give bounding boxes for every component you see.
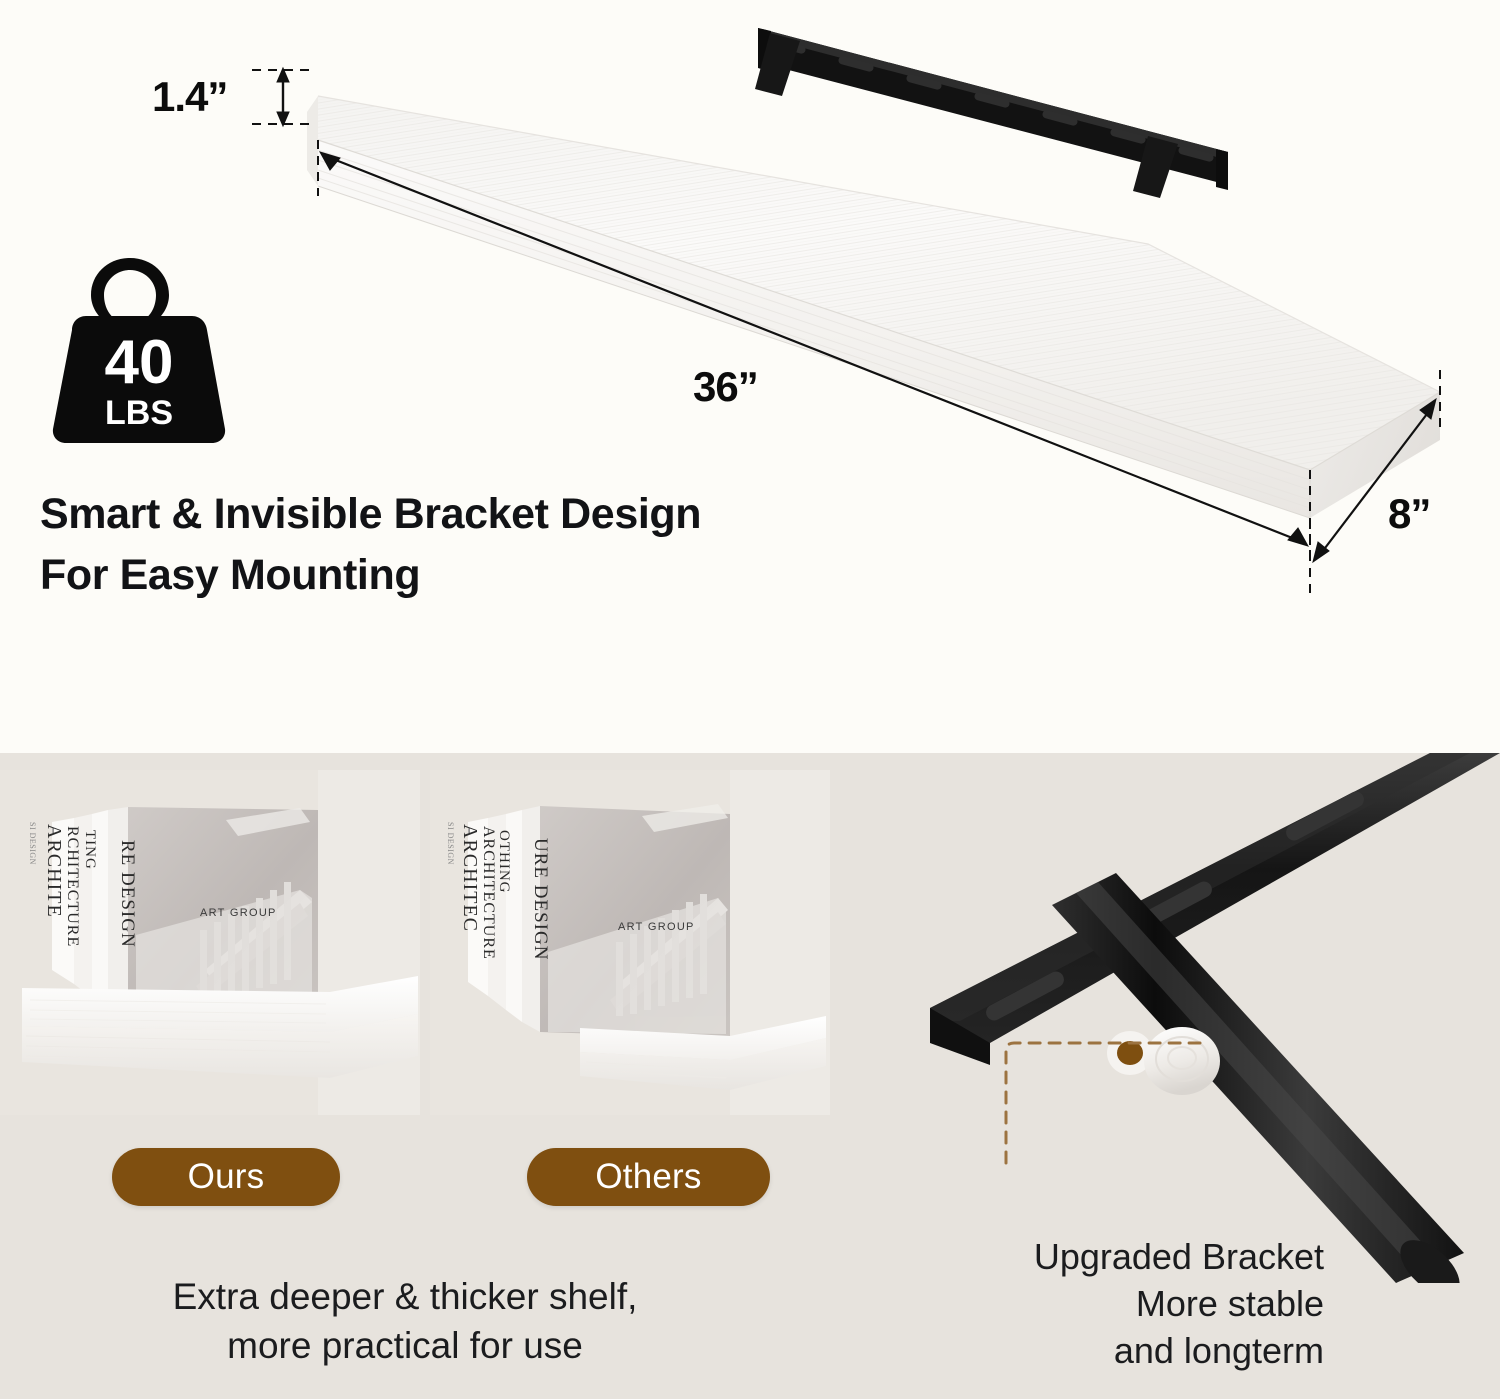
ours-scene: ART GROUP RE DESIGN TING RCHITECTURE ARC…	[0, 770, 420, 1115]
badge-others[interactable]: Others	[527, 1148, 770, 1206]
product-infographic: 40 LBS 1.4” 36” 8” Smart & Invisible Bra…	[0, 0, 1500, 1399]
svg-text:ARCHITE: ARCHITE	[43, 824, 65, 918]
book-cover-text-ours: ART GROUP	[200, 907, 277, 919]
hero-headline: Smart & Invisible Bracket Design For Eas…	[40, 484, 900, 606]
weight-value: 40	[105, 328, 174, 397]
comparison-caption-line-2: more practical for use	[40, 1321, 770, 1370]
badge-ours[interactable]: Ours	[112, 1148, 340, 1206]
hero-panel: 40 LBS 1.4” 36” 8” Smart & Invisible Bra…	[0, 0, 1500, 753]
svg-text:SI DESIGN: SI DESIGN	[28, 822, 37, 865]
bracket-callout-line	[1000, 1035, 1230, 1165]
weight-icon: 40 LBS	[50, 258, 228, 443]
callout-dash-path	[1000, 1035, 1230, 1165]
headline-line-1: Smart & Invisible Bracket Design	[40, 490, 701, 538]
weight-capacity-badge: 40 LBS	[50, 258, 228, 443]
comparison-caption: Extra deeper & thicker shelf, more pract…	[40, 1272, 770, 1370]
bracket-closeup-illustration	[830, 753, 1500, 1283]
bracket-closeup-stage	[830, 753, 1500, 1283]
svg-text:URE DESIGN: URE DESIGN	[530, 838, 551, 960]
bracket-caption-line-1: Upgraded Bracket	[900, 1234, 1324, 1281]
bracket-caption-line-3: and longterm	[900, 1328, 1324, 1375]
bracket-caption: Upgraded Bracket More stable and longter…	[900, 1234, 1324, 1374]
svg-text:ARCHITEC: ARCHITEC	[459, 824, 481, 932]
dimension-length-label: 36”	[693, 363, 758, 411]
svg-text:SI DESIGN: SI DESIGN	[446, 822, 455, 865]
bracket-caption-line-2: More stable	[900, 1281, 1324, 1328]
dimension-depth-label: 8”	[1388, 490, 1430, 538]
svg-text:ARCHITECTURE: ARCHITECTURE	[480, 826, 497, 960]
svg-text:RE DESIGN: RE DESIGN	[117, 840, 138, 948]
dimension-thickness-marker	[252, 68, 312, 126]
mounting-bracket-illustration	[755, 28, 1228, 198]
svg-text:OTHING: OTHING	[496, 830, 512, 894]
dimension-thickness-label: 1.4”	[152, 73, 227, 121]
photo-others: ART GROUP URE DESIGN OTHING ARCHITECTURE…	[430, 770, 830, 1115]
weight-unit: LBS	[105, 394, 173, 432]
headline-line-2: For Easy Mounting	[40, 545, 900, 606]
svg-text:TING: TING	[82, 830, 98, 870]
shelf-body	[307, 96, 1440, 518]
book-cover-text-others: ART GROUP	[618, 921, 695, 933]
photo-ours: ART GROUP RE DESIGN TING RCHITECTURE ARC…	[0, 770, 420, 1115]
comparison-caption-line-1: Extra deeper & thicker shelf,	[40, 1272, 770, 1321]
others-scene: ART GROUP URE DESIGN OTHING ARCHITECTURE…	[430, 770, 830, 1115]
svg-text:RCHITECTURE: RCHITECTURE	[64, 826, 81, 947]
